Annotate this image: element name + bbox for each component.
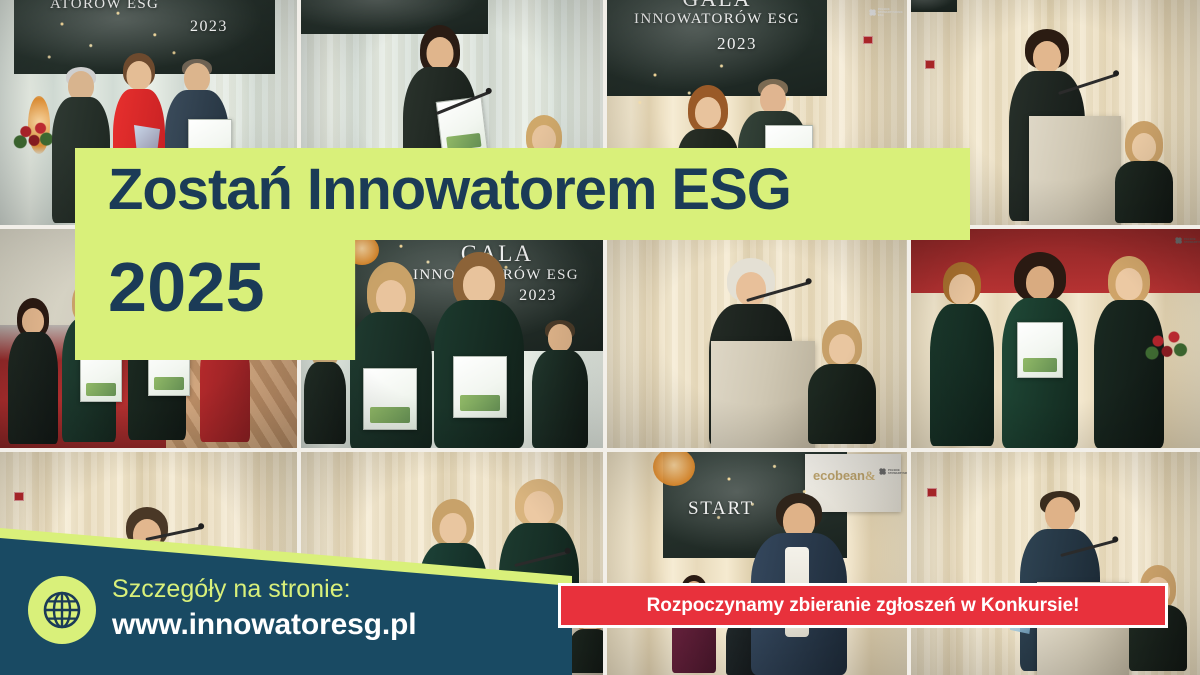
- callout-banner: Rozpoczynamy zbieranie zgłoszeń w Konkur…: [558, 583, 1168, 628]
- collage-tile: [607, 229, 907, 448]
- poster-canvas: ATORÓW ESG 2023: [0, 0, 1200, 675]
- collage-tile: ecobean& POLSKIE STOWARZYSZENIE START: [607, 452, 907, 675]
- page-title-line-2: 2025: [108, 252, 265, 322]
- website-banner: Szczegóły na stronie: www.innowatoresg.p…: [0, 520, 572, 675]
- details-label: Szczegóły na stronie:: [112, 575, 416, 605]
- collage-tile: [911, 452, 1200, 675]
- globe-badge: [28, 576, 96, 644]
- banner-text-group: Szczegóły na stronie: www.innowatoresg.p…: [112, 575, 416, 642]
- page-title-line-1: Zostań Innowatorem ESG: [108, 161, 791, 219]
- collage-tile: POLSKIE STOWARZYSZENIE: [911, 229, 1200, 448]
- globe-icon: [41, 589, 83, 631]
- website-link[interactable]: www.innowatoresg.pl: [112, 607, 416, 642]
- callout-text: Rozpoczynamy zbieranie zgłoszeń w Konkur…: [647, 595, 1080, 617]
